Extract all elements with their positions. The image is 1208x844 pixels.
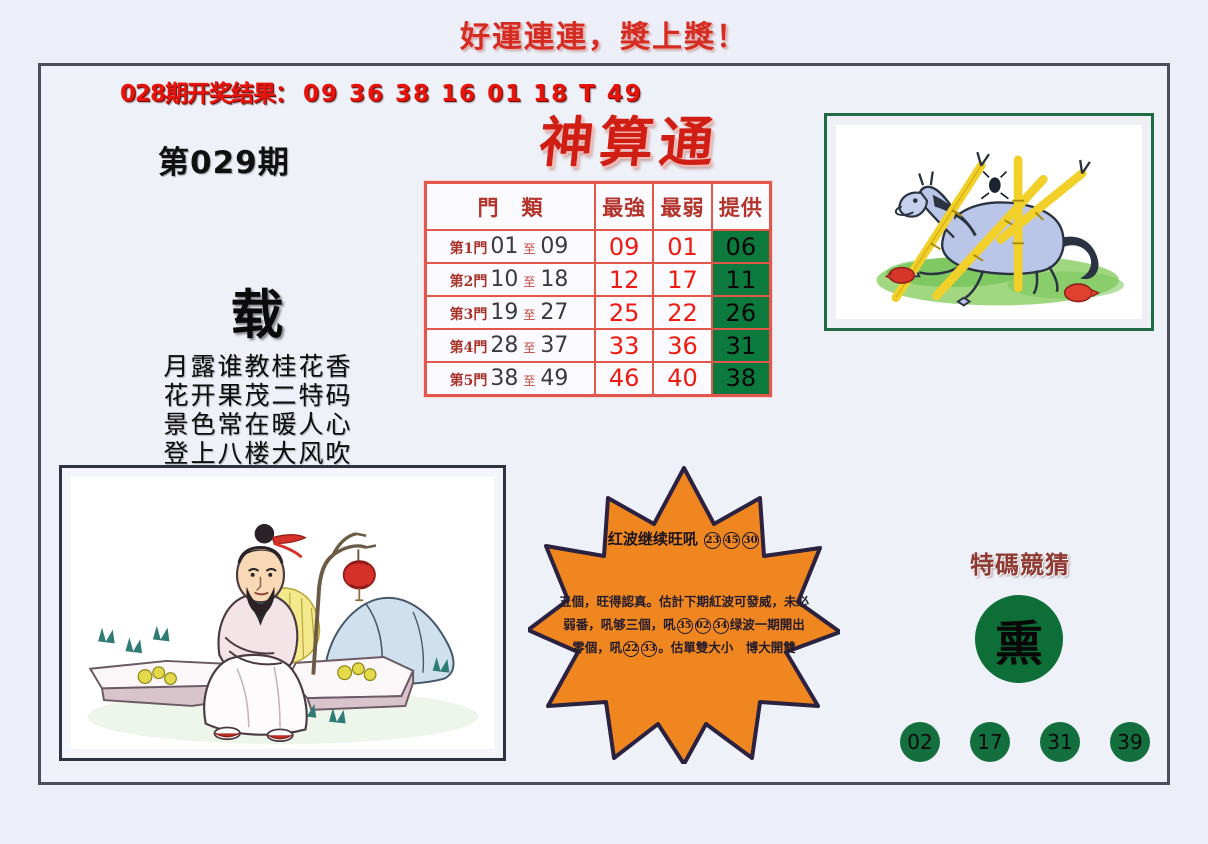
slogan-text: 好運連連，獎上獎！ [460, 20, 748, 55]
cell-weakest: 01 [653, 230, 711, 263]
col-header-range: 門 類 [426, 183, 596, 231]
table-row: 第1門01至09090106 [426, 230, 771, 263]
range-to: 37 [540, 333, 568, 358]
col-header-strong: 最強 [595, 183, 653, 231]
col-header-offer: 提供 [712, 183, 771, 231]
sage-illustration-art [71, 477, 494, 749]
range-from: 38 [490, 366, 518, 391]
top-banner: 好運連連，獎上獎！ [0, 12, 1208, 56]
range-from: 10 [490, 267, 518, 292]
guess-ball: 02 [900, 722, 940, 762]
cell-offer: 26 [712, 296, 771, 329]
poem-block: 月露谁教桂花香 花开果茂二特码 景色常在暖人心 登上八楼大风吹 [140, 352, 376, 468]
gate-name: 第5門 [450, 373, 488, 389]
table-body: 第1門01至09090106第2門10至18121711第3門19至272522… [426, 230, 771, 395]
starburst-shape [528, 462, 840, 764]
sage-illustration [71, 477, 494, 749]
table-row: 第5門38至49464038 [426, 362, 771, 395]
previous-draw-label: 028期开奖结果： [120, 81, 297, 107]
cell-offer: 11 [712, 263, 771, 296]
cell-weakest: 40 [653, 362, 711, 395]
poem-line: 月露谁教桂花香 [140, 352, 376, 381]
poem-line: 景色常在暖人心 [140, 410, 376, 439]
cell-weakest: 36 [653, 329, 711, 362]
cell-offer: 06 [712, 230, 771, 263]
range-to-label: 至 [523, 374, 535, 388]
table-row: 第4門28至37333631 [426, 329, 771, 362]
gate-name: 第2門 [450, 274, 488, 290]
feature-big-character: 载 [152, 273, 362, 349]
brand-logo: 神算通 [536, 98, 724, 177]
range-to-label: 至 [523, 242, 535, 256]
range-to: 27 [540, 300, 568, 325]
cell-weakest: 17 [653, 263, 711, 296]
cell-offer: 38 [712, 362, 771, 395]
poem-line: 登上八楼大风吹 [140, 439, 376, 468]
range-to-label: 至 [523, 341, 535, 355]
gate-name: 第1門 [450, 241, 488, 257]
poem-line: 花开果茂二特码 [140, 381, 376, 410]
col-header-weak: 最弱 [653, 183, 711, 231]
cell-range: 第5門38至49 [426, 362, 596, 395]
guess-section-title: 特碼競猜 [930, 545, 1110, 580]
range-to-label: 至 [523, 308, 535, 322]
range-to: 49 [540, 366, 568, 391]
cell-weakest: 22 [653, 296, 711, 329]
cell-strongest: 12 [595, 263, 653, 296]
gate-name: 第3門 [450, 307, 488, 323]
sage-illustration-frame [59, 465, 506, 761]
table-row: 第2門10至18121711 [426, 263, 771, 296]
cell-range: 第2門10至18 [426, 263, 596, 296]
cell-range: 第4門28至37 [426, 329, 596, 362]
cell-strongest: 33 [595, 329, 653, 362]
starburst-tip-block: 红波继续旺吼 234530 五個，旺得認真。估計下期紅波可發威，未必 弱番，吼够… [528, 462, 840, 764]
cell-strongest: 09 [595, 230, 653, 263]
guess-ball: 39 [1110, 722, 1150, 762]
cell-offer: 31 [712, 329, 771, 362]
guess-ball: 31 [1040, 722, 1080, 762]
guess-main-character: 熏 [975, 595, 1063, 683]
guess-ball: 17 [970, 722, 1010, 762]
range-to: 18 [540, 267, 568, 292]
cell-range: 第1門01至09 [426, 230, 596, 263]
horse-illustration-frame [824, 113, 1154, 331]
range-to-label: 至 [523, 275, 535, 289]
range-from: 28 [490, 333, 518, 358]
cell-strongest: 25 [595, 296, 653, 329]
range-to: 09 [540, 234, 568, 259]
horse-illustration-art [836, 125, 1142, 319]
cell-strongest: 46 [595, 362, 653, 395]
table-header-row: 門 類 最強 最弱 提供 [426, 183, 771, 231]
gate-forecast-table: 門 類 最強 最弱 提供 第1門01至09090106第2門10至1812171… [424, 181, 772, 397]
horse-illustration [836, 125, 1142, 319]
table-row: 第3門19至27252226 [426, 296, 771, 329]
range-from: 19 [490, 300, 518, 325]
guess-ball-row: 02 17 31 39 [900, 722, 1150, 762]
cell-range: 第3門19至27 [426, 296, 596, 329]
issue-number: 第029期 [158, 137, 290, 182]
gate-name: 第4門 [450, 340, 488, 356]
range-from: 01 [490, 234, 518, 259]
